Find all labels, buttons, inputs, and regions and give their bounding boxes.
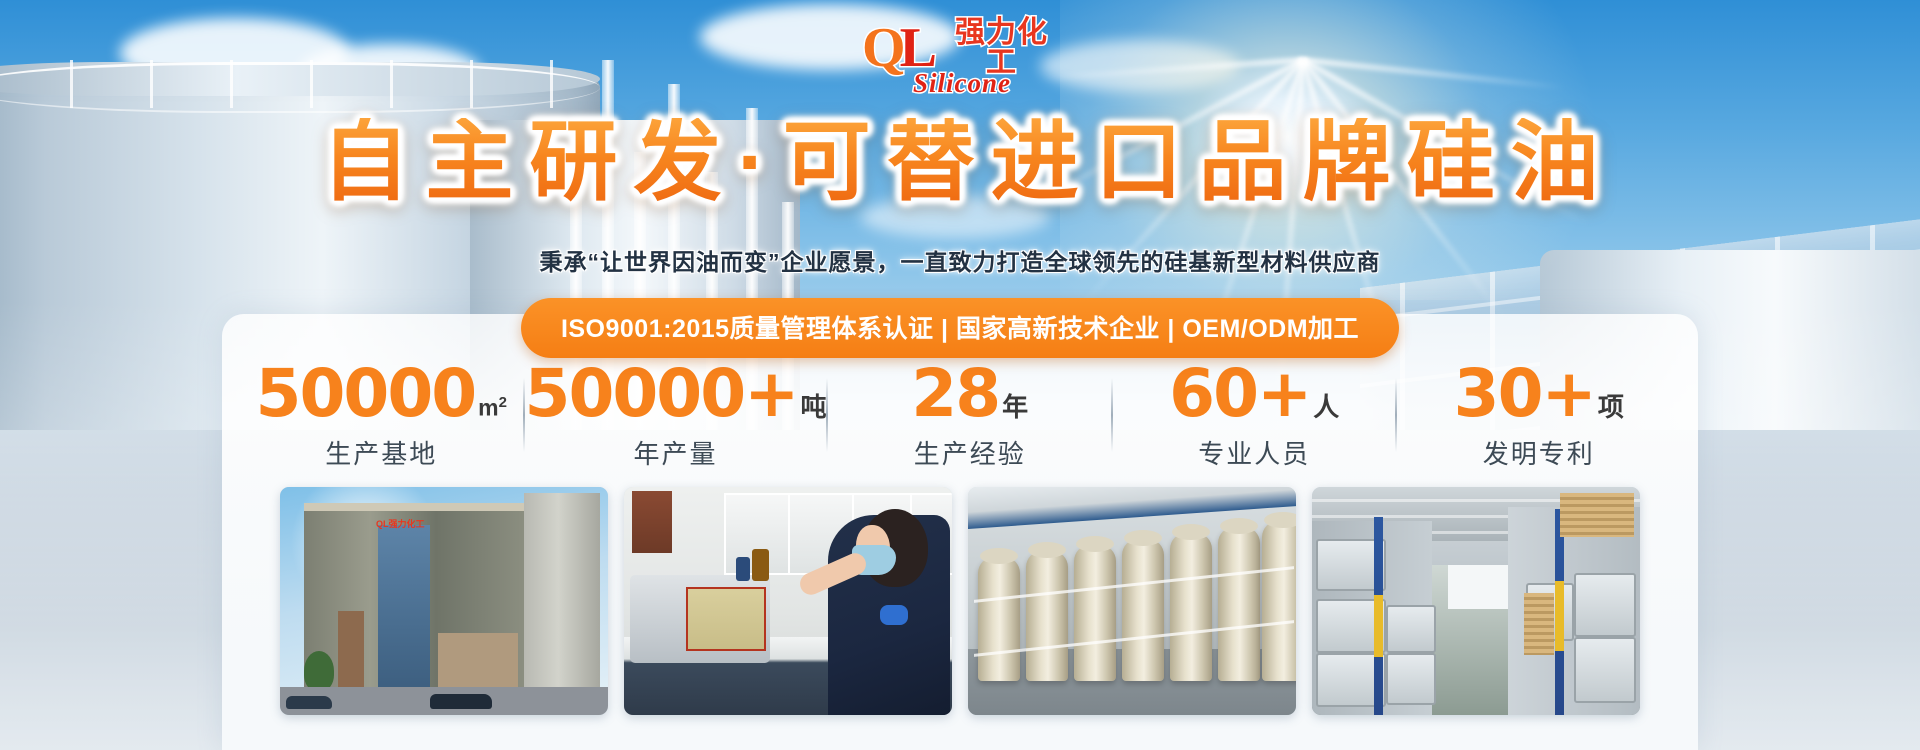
stat-number: 50000: [256, 364, 476, 425]
photo3-silo: [1122, 539, 1164, 681]
photo4-wood-pallet: [1560, 493, 1634, 537]
hero-headline: 自主研发·可替进口品牌硅油: [0, 118, 1920, 206]
photo4-safety-post: [1555, 581, 1564, 651]
stat-unit: 项: [1598, 396, 1624, 420]
promo-banner: Q L 强力化工 Silicone 自主研发·可替进口品牌硅油 秉承“让世界因油…: [0, 0, 1920, 750]
hero-subtitle: 秉承“让世界因油而变”企业愿景，一直致力打造全球领先的硅基新型材料供应商: [0, 243, 1920, 277]
photo3-silo: [1026, 551, 1068, 681]
photo1-car: [430, 694, 492, 709]
stat-item-patents: 30+ 项 发明专利: [1397, 364, 1680, 471]
photo2-reagent-bottle: [736, 557, 750, 581]
photo2-door: [632, 491, 672, 553]
photo-warehouse[interactable]: 成品仓库: [1312, 487, 1640, 715]
stat-unit: m2: [478, 396, 507, 419]
photo2-blue-glove: [880, 605, 908, 625]
stat-caption: 生产经验: [828, 434, 1111, 471]
stat-number: 28: [911, 364, 999, 425]
company-logo[interactable]: Q L 强力化工 Silicone: [862, 18, 1062, 110]
photo1-right-wing: [524, 493, 600, 689]
photo3-silo: [1262, 521, 1296, 681]
stat-value-row: 28 年: [828, 364, 1111, 425]
certification-badge-wrap: ISO9001:2015质量管理体系认证 | 国家高新技术企业 | OEM/OD…: [0, 298, 1920, 358]
photo4-ibc-tote: [1386, 653, 1436, 705]
photo-strip: QL强力化工 公司办公大楼 实验: [280, 487, 1640, 715]
photo3-silo: [1074, 545, 1116, 681]
photo4-wood-pallet: [1524, 593, 1554, 655]
photo4-ibc-tote: [1574, 637, 1636, 703]
photo4-ibc-tote: [1386, 605, 1436, 653]
stats-row: 50000 m2 生产基地 50000+ 吨 年产量 28 年 生产经验 60+: [240, 364, 1680, 474]
stat-caption: 专业人员: [1113, 434, 1396, 471]
stat-unit: 人: [1313, 396, 1339, 420]
photo4-window: [1448, 565, 1512, 609]
photo1-brick-tower: [338, 611, 364, 689]
photo3-silo: [1218, 527, 1260, 681]
stat-caption: 年产量: [525, 434, 827, 471]
certification-badge: ISO9001:2015质量管理体系认证 | 国家高新技术企业 | OEM/OD…: [521, 298, 1399, 358]
stat-number: 50000+: [525, 364, 798, 425]
photo1-glass-curtain: [378, 525, 430, 689]
stat-value-row: 60+ 人: [1113, 364, 1396, 425]
photo-reactor-silos[interactable]: 生产储罐区: [968, 487, 1296, 715]
stat-value-row: 50000 m2: [240, 364, 523, 425]
photo2-analyzer: [630, 575, 770, 663]
stat-unit: 年: [1002, 396, 1028, 420]
photo2-analyzer-screen: [686, 587, 766, 651]
photo1-entrance-canopy: [438, 633, 518, 689]
stat-number: 30+: [1454, 364, 1595, 425]
stat-caption: 发明专利: [1397, 434, 1680, 471]
photo4-safety-post: [1374, 595, 1383, 657]
stat-caption: 生产基地: [240, 434, 523, 471]
photo1-rooftop-logo: QL强力化工: [376, 517, 425, 530]
stat-unit: 吨: [800, 396, 826, 420]
photo3-silo: [1170, 533, 1212, 681]
photo2-reagent-bottle: [752, 549, 769, 581]
stat-item-experience: 28 年 生产经验: [828, 364, 1111, 471]
logo-letter-q: Q: [862, 20, 904, 76]
stat-item-annual-output: 50000+ 吨 年产量: [525, 364, 827, 471]
stat-number: 60+: [1169, 364, 1310, 425]
photo1-car: [286, 696, 332, 709]
stat-value-row: 30+ 项: [1397, 364, 1680, 425]
stat-item-production-base: 50000 m2 生产基地: [240, 364, 523, 471]
photo3-silo: [978, 557, 1020, 681]
stat-item-staff: 60+ 人 专业人员: [1113, 364, 1396, 471]
photo4-ibc-tote: [1574, 573, 1636, 637]
stat-value-row: 50000+ 吨: [525, 364, 827, 425]
photo1-tree: [304, 651, 334, 691]
photo-office-building[interactable]: QL强力化工 公司办公大楼: [280, 487, 608, 715]
photo-laboratory[interactable]: 实验室检测人员: [624, 487, 952, 715]
